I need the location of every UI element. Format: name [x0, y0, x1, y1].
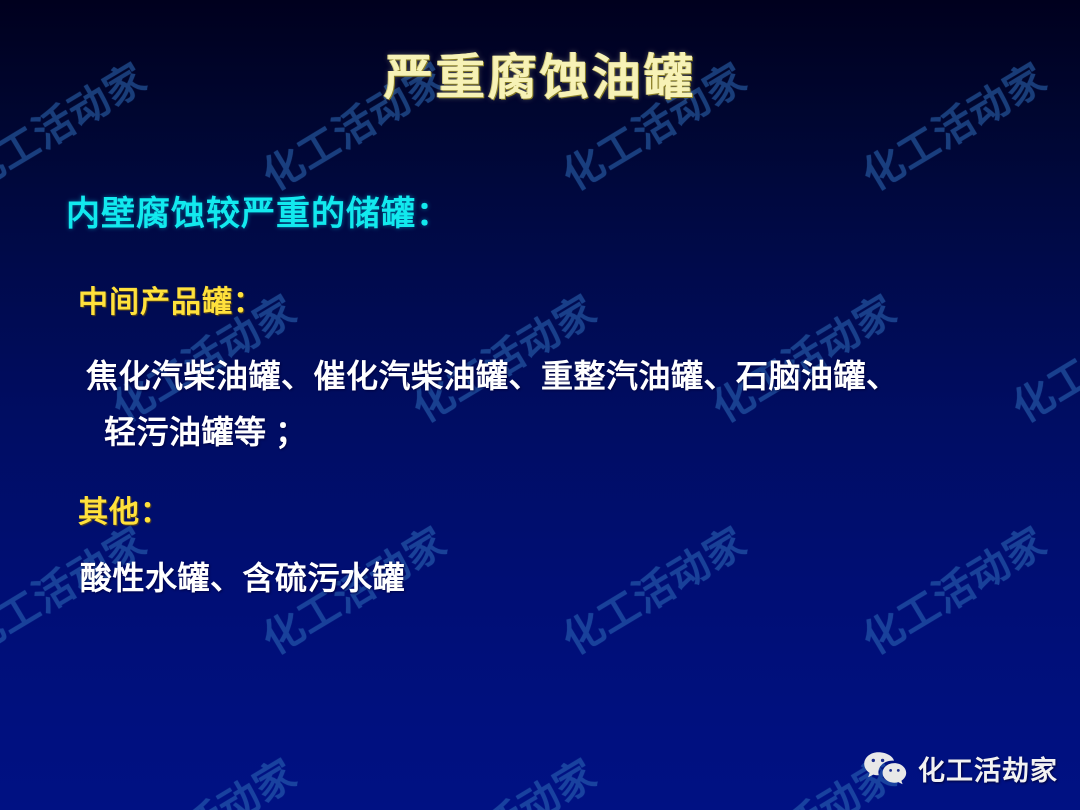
slide-body: 内壁腐蚀较严重的储罐： 中间产品罐： 焦化汽柴油罐、催化汽柴油罐、重整汽油罐、石… [0, 186, 1080, 599]
watermark-text: 化工活动家 [0, 742, 6, 810]
section-label-intermediate-tanks: 中间产品罐： [78, 277, 1080, 321]
watermark-text: 化工活动家 [100, 742, 306, 810]
section-line-intermediate-2: 轻污油罐等 ； [104, 407, 1080, 453]
section-line-intermediate-1: 焦化汽柴油罐、催化汽柴油罐、重整汽油罐、石脑油罐、 [86, 351, 1080, 397]
wechat-icon [862, 750, 908, 788]
slide-canvas: 化工活动家化工活动家化工活动家化工活动家化工活动家化工活动家化工活动家化工活动家… [0, 0, 1080, 810]
body-heading: 内壁腐蚀较严重的储罐： [66, 186, 1080, 235]
title-area: 严重腐蚀油罐 [0, 52, 1080, 103]
section-line-other-1: 酸性水罐、含硫污水罐 [80, 553, 1080, 599]
footer-brand-text: 化工活劫家 [918, 749, 1058, 788]
footer-brand: 化工活劫家 [862, 749, 1058, 788]
section-label-other: 其他： [78, 487, 1080, 531]
watermark-text: 化工活动家 [400, 742, 606, 810]
slide-title: 严重腐蚀油罐 [384, 52, 696, 103]
